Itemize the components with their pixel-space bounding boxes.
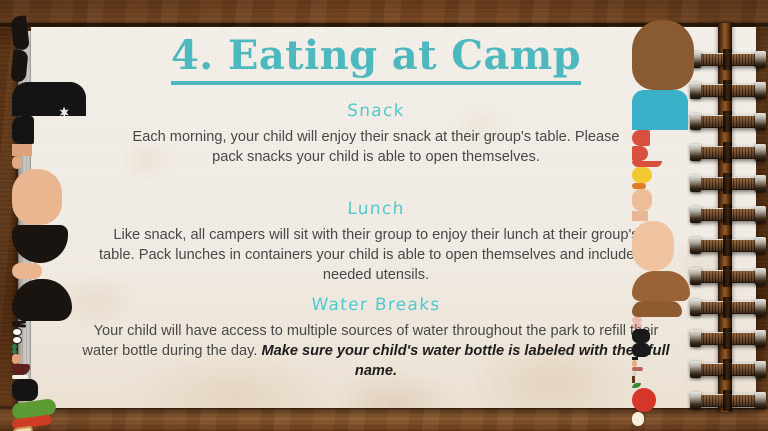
sleeve-left: [632, 130, 650, 146]
neck: [12, 144, 32, 156]
ring-slot: [723, 328, 732, 349]
arm-left: [632, 189, 652, 211]
ring-cap-left: [690, 299, 701, 316]
binding-ring: [688, 359, 768, 380]
ring-slot: [723, 390, 732, 411]
ring-slot: [723, 173, 732, 194]
jumpman-logo-icon: [58, 106, 70, 122]
tshirt-body: [12, 82, 86, 116]
eye-right: [12, 336, 22, 344]
hair-top: [632, 271, 690, 301]
binding-ring: [688, 204, 768, 225]
slide-content: 4. Eating at Camp Snack Each morning, yo…: [31, 27, 721, 408]
sunglasses-lens-right-icon: [632, 343, 650, 357]
binding-ring: [688, 328, 768, 349]
ring-cap-right: [755, 330, 766, 347]
binding-ring: [688, 297, 768, 318]
ring-cap-right: [755, 392, 766, 409]
sunglasses-lens-left-icon: [632, 329, 650, 343]
ring-cap-right: [755, 175, 766, 192]
section-heading-lunch: Lunch: [30, 199, 721, 219]
face: [632, 221, 674, 271]
section-lunch: Lunch Like snack, all campers will sit w…: [31, 199, 721, 285]
section-snack: Snack Each morning, your child will enjo…: [31, 101, 721, 167]
apple-icon: [632, 388, 656, 412]
ring-cap-right: [755, 206, 766, 223]
page-title-wrap: 4. Eating at Camp: [31, 35, 721, 85]
ring-slot: [723, 204, 732, 225]
section-body-lunch: Like snack, all campers will sit with th…: [95, 225, 657, 285]
hair-side-right: [10, 49, 28, 82]
ring-cap-right: [755, 113, 766, 130]
ring-cap-right: [755, 237, 766, 254]
ring-cap-left: [690, 237, 701, 254]
ring-slot: [723, 142, 732, 163]
ring-cap-left: [690, 330, 701, 347]
ring-cap-left: [690, 268, 701, 285]
eye-left: [12, 328, 22, 336]
section-body-water-breaks: Your child will have access to multiple …: [80, 321, 672, 381]
ring-cap-left: [690, 144, 701, 161]
ring-cap-right: [755, 82, 766, 99]
nose: [632, 360, 637, 367]
ring-slot: [723, 80, 732, 101]
shirt-emblem-icon: [632, 167, 652, 183]
slide-canvas: 4. Eating at Camp Snack Each morning, yo…: [0, 0, 768, 431]
shoulder-left: [12, 116, 34, 144]
ring-slot: [723, 111, 732, 132]
beard-inner-skin: [12, 263, 42, 279]
ring-slot: [723, 359, 732, 380]
binding-ring: [688, 173, 768, 194]
arm-right: [12, 379, 38, 401]
shirt-body: [632, 90, 688, 130]
hair-side-left: [10, 15, 29, 50]
face: [12, 169, 62, 225]
ring-slot: [723, 266, 732, 287]
ring-slot: [723, 235, 732, 256]
collar: [632, 161, 662, 167]
bitmoji-man-holding-sandwich-icon: [12, 16, 120, 128]
binding-ring: [688, 266, 768, 287]
ring-cap-left: [690, 361, 701, 378]
ring-cap-right: [755, 51, 766, 68]
ring-cap-right: [755, 361, 766, 378]
ring-cap-right: [755, 299, 766, 316]
page-title: 4. Eating at Camp: [171, 35, 581, 85]
section-heading-snack: Snack: [30, 101, 721, 121]
ear: [12, 156, 22, 169]
apple-bite-icon: [632, 412, 644, 426]
apple-stem-icon: [632, 376, 635, 383]
section-body-snack: Each morning, your child will enjoy thei…: [116, 127, 636, 167]
binding-ring: [688, 142, 768, 163]
ring-cap-right: [755, 144, 766, 161]
binding-ring: [688, 235, 768, 256]
ring-cap-right: [755, 268, 766, 285]
section-water-breaks: Water Breaks Your child will have access…: [31, 295, 721, 381]
section-heading-water-breaks: Water Breaks: [30, 295, 721, 315]
bitmoji-woman-holding-apple-icon: [632, 20, 720, 130]
sleeve-right: [632, 146, 648, 161]
neck: [632, 211, 648, 221]
ring-cap-left: [690, 392, 701, 409]
ring-slot: [723, 49, 732, 70]
hair-bangs: [632, 301, 682, 317]
ring-cap-left: [690, 206, 701, 223]
binding-ring: [688, 390, 768, 411]
hair-back: [632, 20, 694, 90]
ring-slot: [723, 297, 732, 318]
ring-cap-left: [690, 175, 701, 192]
